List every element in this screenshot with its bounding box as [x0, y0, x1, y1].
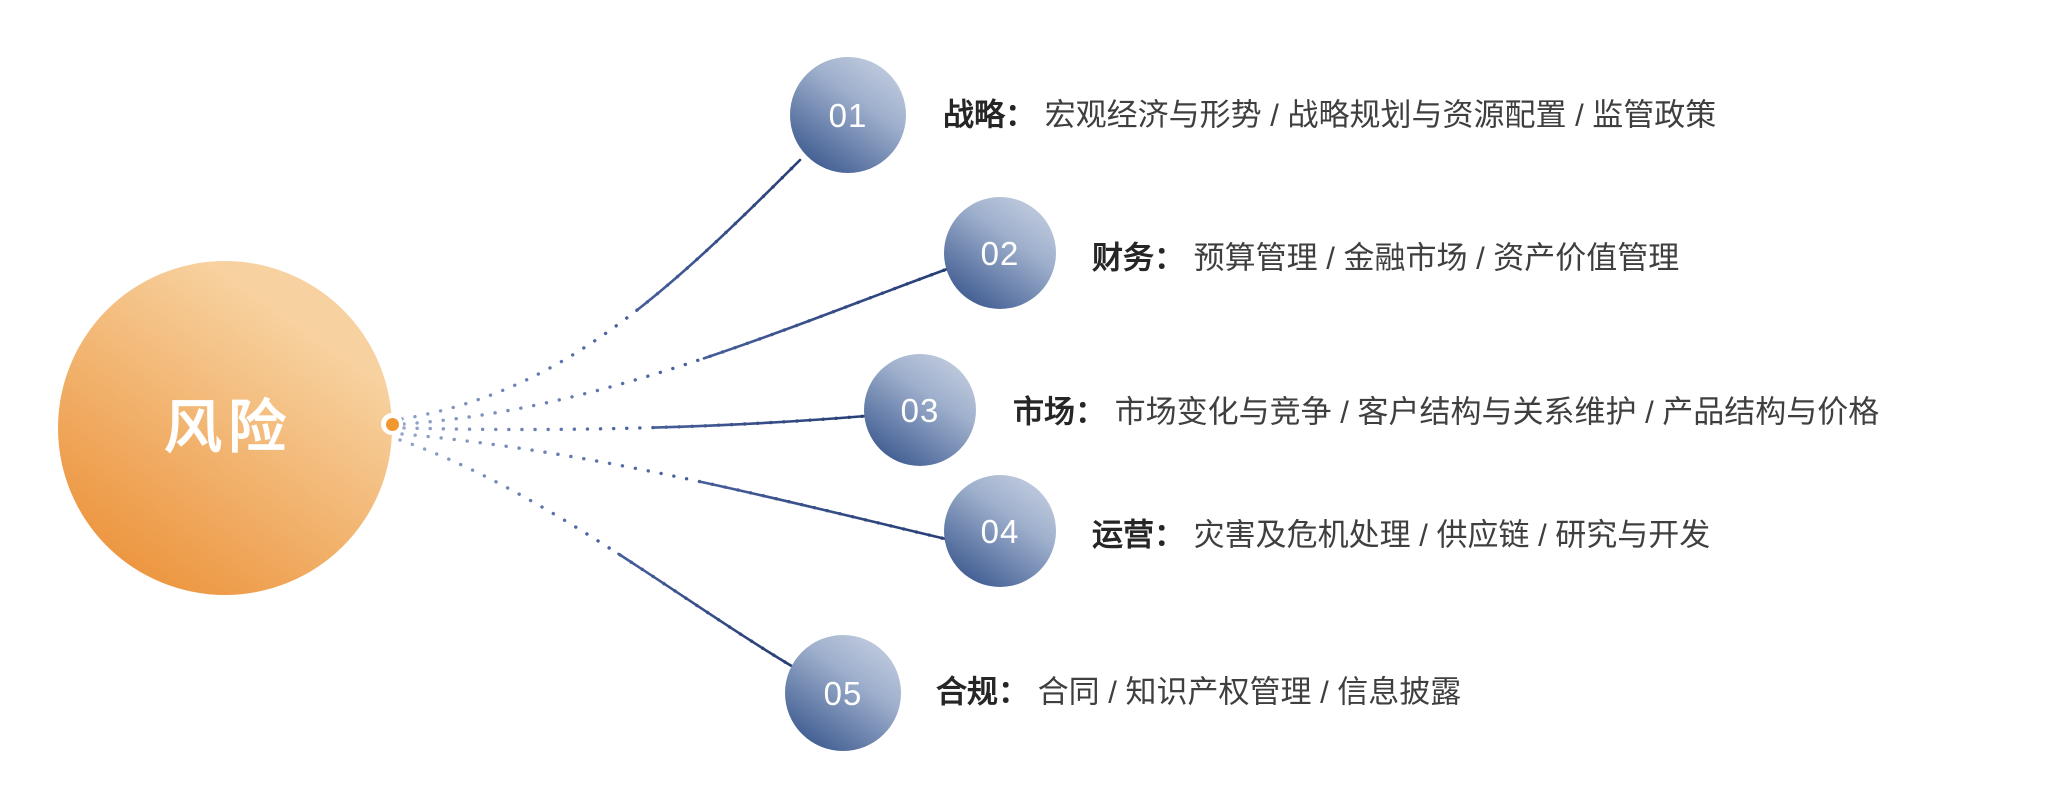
branch-label-02: 财务： 预算管理 / 金融市场 / 资产价值管理	[1092, 239, 1679, 276]
branch-items: 预算管理 / 金融市场 / 资产价值管理	[1194, 240, 1680, 275]
hub-connector-dot	[381, 413, 403, 435]
connector-solid-1	[402, 160, 800, 419]
branch-label-05: 合规： 合同 / 知识产权管理 / 信息披露	[936, 673, 1461, 710]
branch-category: 财务：	[1092, 240, 1185, 275]
branch-node-number: 03	[901, 394, 940, 427]
connector-dotted-3	[404, 416, 866, 430]
branch-items: 灾害及危机处理 / 供应链 / 研究与开发	[1194, 517, 1711, 552]
branch-node-number: 05	[824, 677, 863, 710]
diagram-canvas: 风险 01战略： 宏观经济与形势 / 战略规划与资源配置 / 监管政策02财务：…	[0, 0, 2068, 804]
branch-label-04: 运营： 灾害及危机处理 / 供应链 / 研究与开发	[1092, 516, 1710, 553]
hub-connector-dot-inner	[386, 418, 399, 431]
branch-label-03: 市场： 市场变化与竞争 / 客户结构与关系维护 / 产品结构与价格	[1013, 393, 1879, 430]
connector-dotted-5	[400, 440, 795, 668]
branch-label-01: 战略： 宏观经济与形势 / 战略规划与资源配置 / 监管政策	[943, 96, 1716, 133]
branch-category: 合规：	[936, 674, 1029, 709]
connector-solid-5	[400, 440, 795, 668]
branch-node-number: 01	[829, 99, 868, 132]
branch-node-03[interactable]: 03	[864, 354, 976, 466]
branch-node-05[interactable]: 05	[785, 635, 901, 751]
branch-items: 宏观经济与形势 / 战略规划与资源配置 / 监管政策	[1045, 97, 1717, 132]
branch-items: 市场变化与竞争 / 客户结构与关系维护 / 产品结构与价格	[1115, 394, 1880, 429]
connector-dotted-1	[402, 160, 800, 419]
branch-node-number: 02	[981, 237, 1020, 270]
center-node[interactable]: 风险	[58, 261, 392, 595]
branch-category: 战略：	[943, 97, 1036, 132]
branch-node-04[interactable]: 04	[944, 475, 1056, 587]
connector-solid-4	[402, 434, 950, 540]
connector-dotted-4	[402, 434, 950, 540]
branch-items: 合同 / 知识产权管理 / 信息披露	[1038, 674, 1462, 709]
center-node-label: 风险	[158, 399, 292, 457]
branch-node-number: 04	[981, 515, 1020, 548]
branch-category: 运营：	[1092, 517, 1185, 552]
connector-solid-3	[404, 416, 866, 430]
branch-node-02[interactable]: 02	[944, 197, 1056, 309]
branch-node-01[interactable]: 01	[790, 57, 906, 173]
branch-category: 市场：	[1013, 394, 1106, 429]
